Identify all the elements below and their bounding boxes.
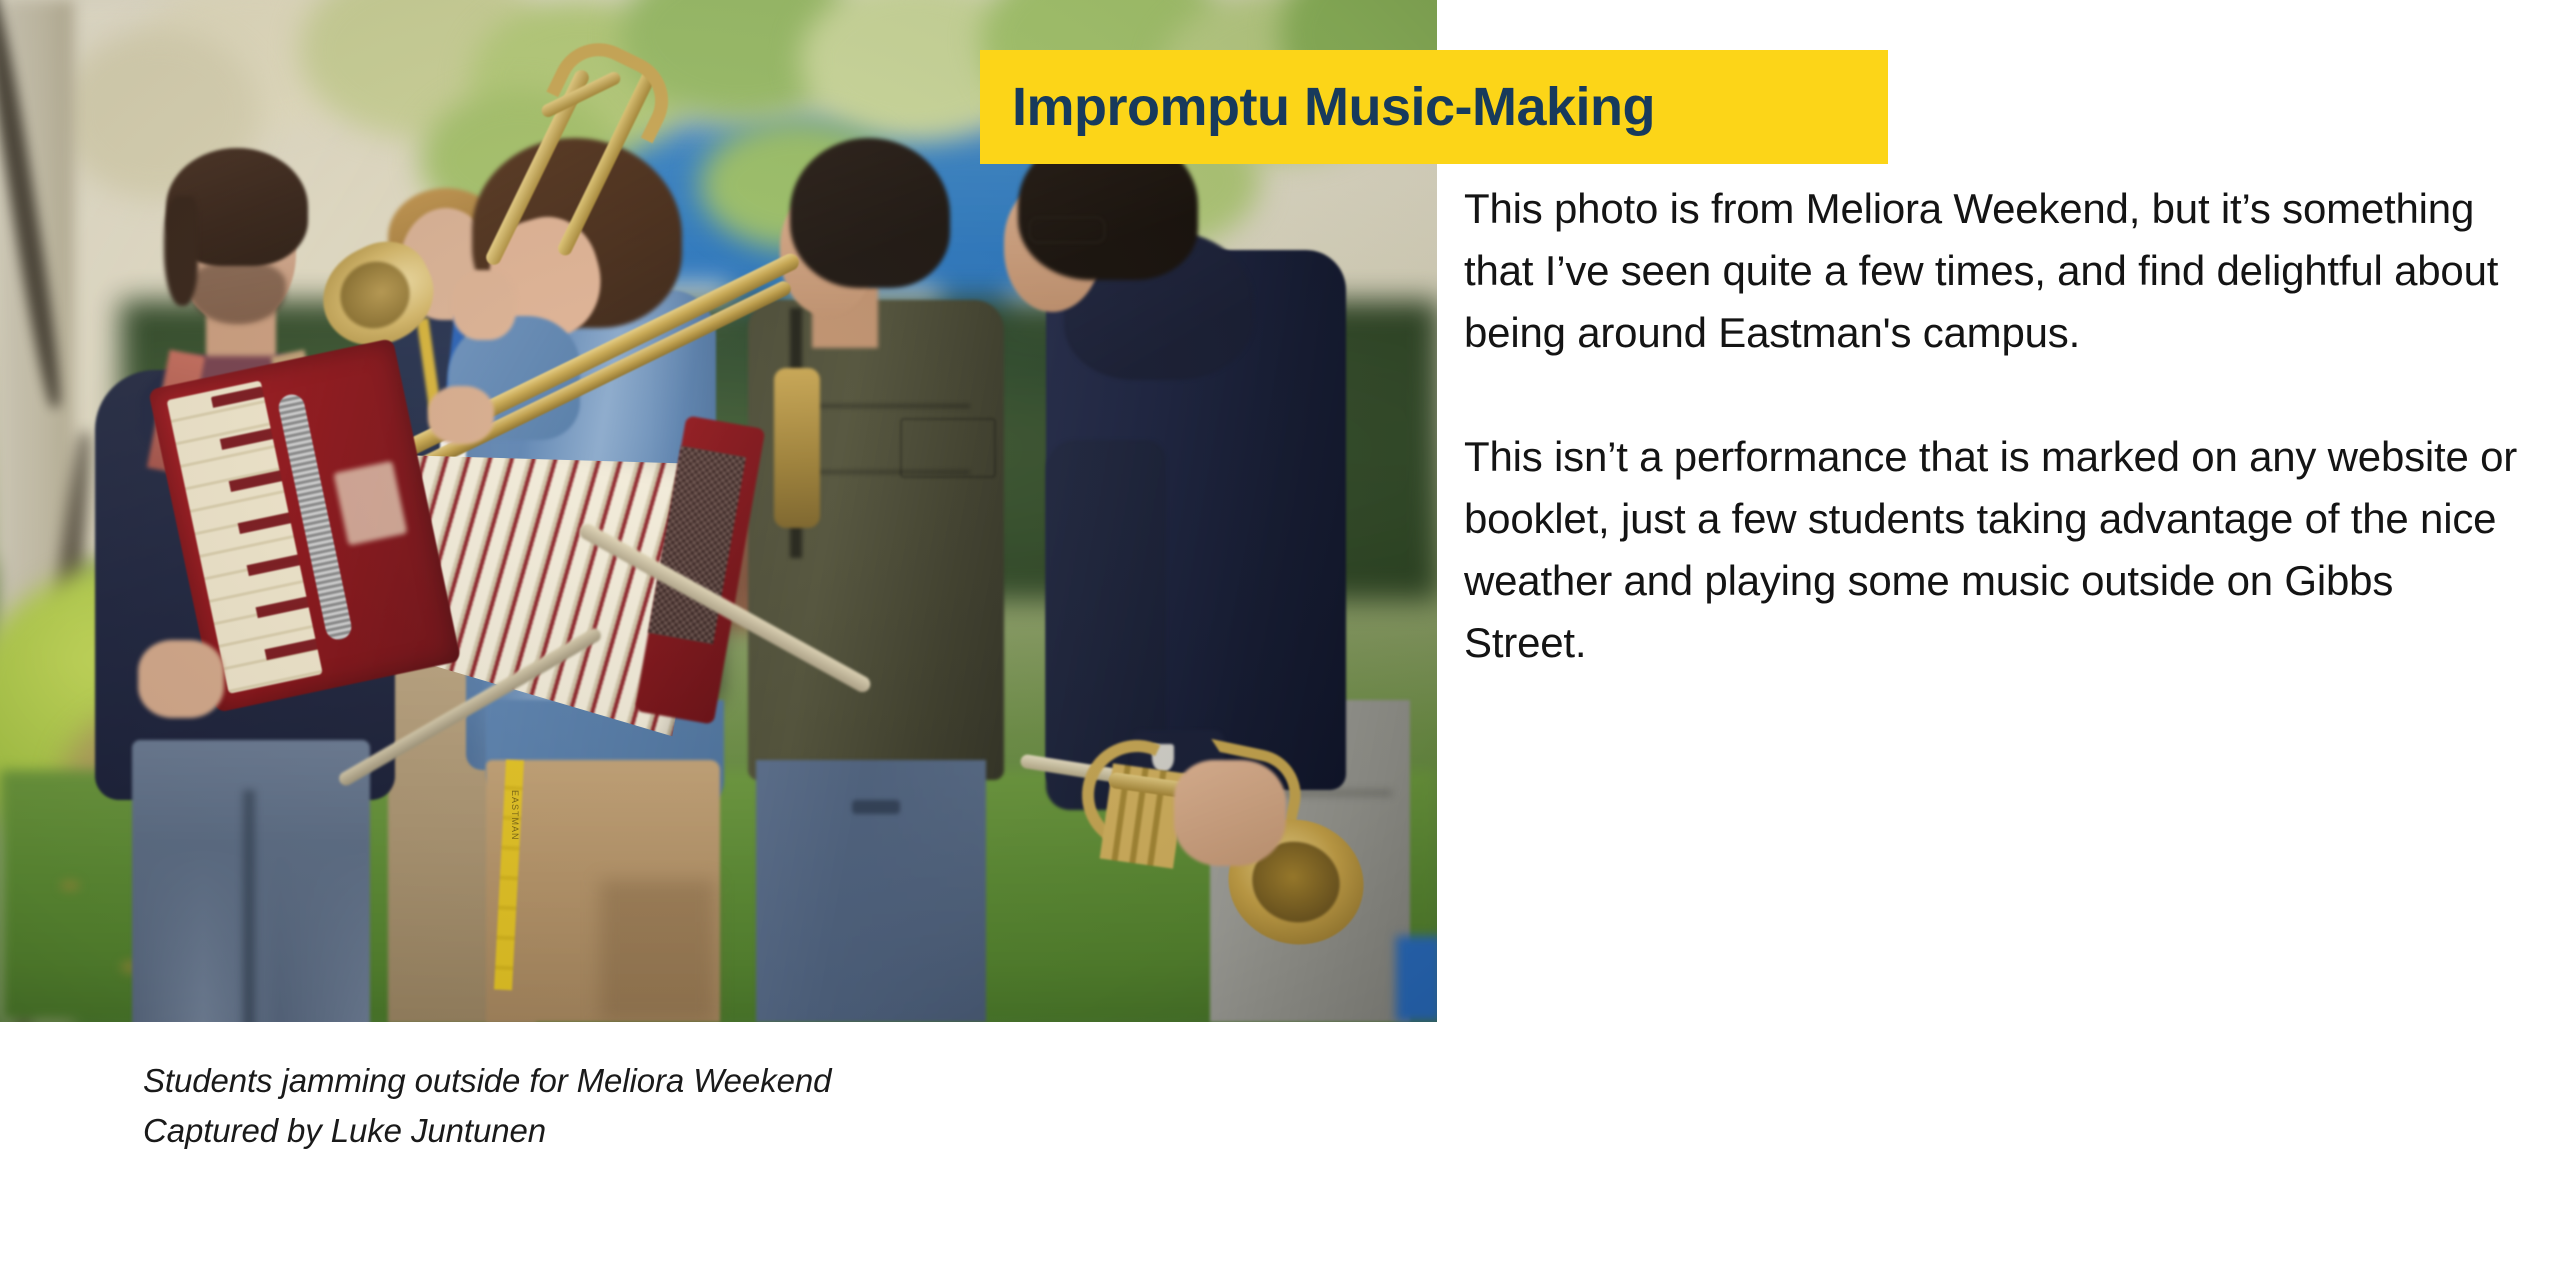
page-title: Impromptu Music-Making [980,80,1655,134]
slide-page: EASTMAN [0,0,2560,1280]
article-body: This photo is from Meliora Weekend, but … [1464,178,2524,674]
jeans-hammer-loop [852,800,900,814]
photo-caption: Students jamming outside for Meliora Wee… [143,1056,831,1156]
shorts-shadow [600,880,715,1022]
student-trombone-hand-lower [428,386,494,444]
eyeglasses-icon [1028,216,1106,244]
student-accordion-beard [190,262,286,324]
title-banner: Impromptu Music-Making [980,50,1888,164]
body-paragraph-1: This photo is from Meliora Weekend, but … [1464,178,2524,364]
eastman-lanyard-text: EASTMAN [498,790,520,960]
jeans-inseam [243,790,255,1022]
caption-line-credit: Captured by Luke Juntunen [143,1106,831,1156]
student-accordion-hand [138,640,224,718]
student-accordion-sideburn [164,196,198,306]
brass-instrument-partial [774,368,820,528]
jacket-pocket-flap [900,418,996,478]
caption-line-description: Students jamming outside for Meliora Wee… [143,1056,831,1106]
body-paragraph-2: This isn’t a performance that is marked … [1464,426,2524,674]
student-trombone-hand-upper [452,270,516,340]
student-trumpet-hand [1174,760,1286,866]
blue-object [1396,936,1437,1022]
student-olive-hair [790,138,950,288]
